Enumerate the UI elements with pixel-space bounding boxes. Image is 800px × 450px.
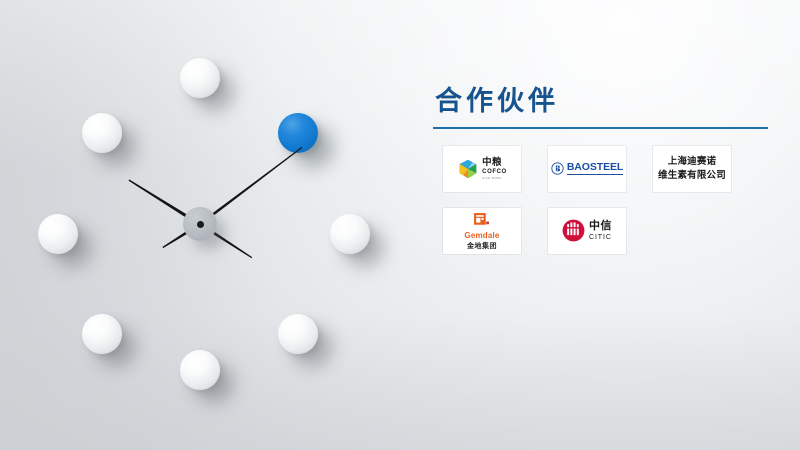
clock-marker-5 [278, 314, 318, 354]
citic-wordmark: 中信 CITIC [589, 221, 612, 241]
clock-marker-7 [82, 314, 122, 354]
cofco-logo: 中粮 COFCO NICE WORK [457, 158, 507, 180]
clock-center-pin [197, 221, 204, 228]
partner-card-disano[interactable]: 上海迪赛诺 维生素有限公司 [653, 146, 731, 192]
baosteel-emblem-icon [551, 162, 564, 175]
slide-canvas: 合作伙伴 中粮 COFCO [0, 0, 800, 450]
citic-name-cn: 中信 [589, 221, 612, 232]
clock-marker-11 [82, 113, 122, 153]
partner-card-citic[interactable]: 中信 CITIC [548, 208, 626, 254]
partner-card-baosteel[interactable]: BAOSTEEL [548, 146, 626, 192]
clock-minute-hand [199, 145, 304, 226]
citic-emblem-icon [562, 219, 585, 242]
partner-card-cofco[interactable]: 中粮 COFCO NICE WORK [443, 146, 521, 192]
title-underline-rule [433, 127, 768, 129]
partner-card-gemdale[interactable]: Gemdale 金地集团 [443, 208, 521, 254]
cofco-tagline: NICE WORK [482, 177, 502, 180]
partner-card-empty-slot [653, 208, 731, 254]
partner-logo-grid: 中粮 COFCO NICE WORK BAOSTEEL [433, 146, 778, 254]
baosteel-logo: BAOSTEEL [551, 162, 623, 175]
gemdale-name-en: Gemdale [464, 232, 499, 240]
page-title: 合作伙伴 [433, 86, 778, 118]
disano-name-line1: 上海迪赛诺 [658, 155, 726, 169]
baosteel-name-en: BAOSTEEL [567, 162, 623, 173]
cofco-name-en: COFCO [482, 169, 507, 175]
gemdale-square-icon [473, 212, 490, 229]
clock-marker-3 [330, 214, 370, 254]
citic-logo: 中信 CITIC [562, 219, 612, 242]
cofco-name-cn: 中粮 [482, 158, 502, 168]
clock-marker-12 [180, 58, 220, 98]
cofco-wordmark: 中粮 COFCO NICE WORK [482, 158, 507, 179]
clock-marker-6 [180, 350, 220, 390]
wall-clock-illustration [30, 48, 370, 400]
citic-name-en: CITIC [589, 234, 612, 241]
clock-marker-1-highlight [278, 113, 318, 153]
cofco-cube-icon [457, 158, 479, 180]
clock-marker-9 [38, 214, 78, 254]
partners-panel: 合作伙伴 中粮 COFCO [433, 86, 778, 254]
gemdale-logo: Gemdale 金地集团 [464, 212, 499, 250]
baosteel-wordmark: BAOSTEEL [567, 162, 623, 175]
baosteel-underline [567, 174, 623, 175]
disano-name-line2: 维生素有限公司 [658, 169, 726, 183]
gemdale-name-cn: 金地集团 [467, 243, 497, 250]
disano-logo: 上海迪赛诺 维生素有限公司 [658, 155, 726, 183]
